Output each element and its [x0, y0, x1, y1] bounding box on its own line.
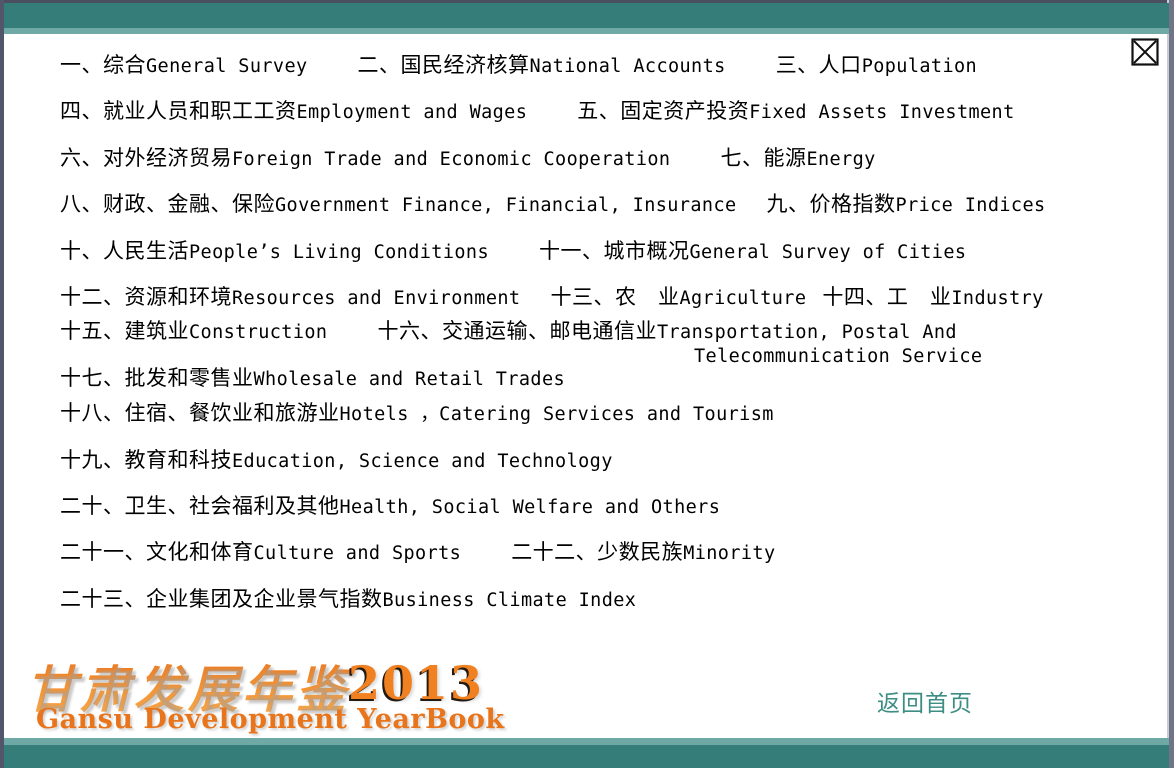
toc-item-12-cn[interactable]: 十二、资源和环境 — [60, 285, 232, 309]
logo-title-en: Gansu Development YearBook — [36, 704, 505, 735]
yearbook-contents-page: 一、综合General Survey二、国民经济核算National Accou… — [0, 0, 1174, 768]
footer-band — [4, 745, 1169, 768]
toc-item-13-en[interactable]: Agriculture — [679, 288, 806, 309]
toc-row: 十二、资源和环境Resources and Environment十三、农 业A… — [4, 274, 1169, 320]
toc-item-20-en[interactable]: Health, Social Welfare and Others — [340, 497, 721, 518]
toc-row: 二十三、企业集团及企业景气指数Business Climate Index — [4, 576, 1169, 622]
toc-item-3-cn[interactable]: 三、人口 — [776, 53, 862, 77]
toc-item-23-en[interactable]: Business Climate Index — [383, 590, 637, 611]
toc-item-1-cn[interactable]: 一、综合 — [60, 53, 146, 77]
toc-item-19-en[interactable]: Education, Science and Technology — [232, 451, 613, 472]
toc-row-continuation: Telecommunication Service — [4, 344, 1169, 367]
footer: 甘肃发展年鉴 2013 Gansu Development YearBook 返… — [4, 648, 1169, 738]
toc-item-9-en[interactable]: Price Indices — [896, 195, 1046, 216]
toc-row: 二十一、文化和体育Culture and Sports二十二、少数民族Minor… — [4, 529, 1169, 575]
toc-item-20-cn[interactable]: 二十、卫生、社会福利及其他 — [60, 494, 340, 518]
toc-item-19-cn[interactable]: 十九、教育和科技 — [60, 448, 232, 472]
toc-row: 十八、住宿、餐饮业和旅游业Hotels ，Catering Services a… — [4, 390, 1169, 436]
toc-item-6-en[interactable]: Foreign Trade and Economic Cooperation — [232, 149, 670, 170]
logo-year: 2013 — [348, 656, 484, 710]
toc-item-18-en[interactable]: Hotels ，Catering Services and Tourism — [340, 404, 774, 425]
toc-item-6-cn[interactable]: 六、对外经济贸易 — [60, 146, 232, 170]
toc-item-15-cn[interactable]: 十五、建筑业 — [60, 319, 189, 343]
toc-item-5-cn[interactable]: 五、固定资产投资 — [577, 99, 749, 123]
toc-item-17-cn[interactable]: 十七、批发和零售业 — [60, 366, 254, 390]
toc-item-17-en[interactable]: Wholesale and Retail Trades — [254, 369, 566, 390]
toc-item-23-cn[interactable]: 二十三、企业集团及企业景气指数 — [60, 587, 383, 611]
toc-item-3-en[interactable]: Population — [862, 56, 977, 77]
toc-row: 一、综合General Survey二、国民经济核算National Accou… — [4, 42, 1169, 88]
table-of-contents: 一、综合General Survey二、国民经济核算National Accou… — [4, 34, 1169, 654]
toc-item-7-en[interactable]: Energy — [806, 149, 875, 170]
toc-item-16-en-line2[interactable]: Telecommunication Service — [694, 346, 982, 367]
toc-item-14-cn[interactable]: 十四、工 业 — [822, 285, 951, 309]
toc-item-16-en[interactable]: Transportation, Postal And — [657, 322, 957, 343]
toc-item-1-en[interactable]: General Survey — [146, 56, 308, 77]
toc-row: 六、对外经济贸易Foreign Trade and Economic Coope… — [4, 135, 1169, 181]
toc-item-8-cn[interactable]: 八、财政、金融、保险 — [60, 192, 275, 216]
toc-item-8-en[interactable]: Government Finance, Financial, Insurance — [275, 195, 737, 216]
toc-item-15-en[interactable]: Construction — [189, 322, 327, 343]
toc-row: 四、就业人员和职工工资Employment and Wages五、固定资产投资F… — [4, 88, 1169, 134]
footer-band-highlight — [4, 738, 1169, 745]
toc-item-5-en[interactable]: Fixed Assets Investment — [749, 102, 1014, 123]
toc-row: 八、财政、金融、保险Government Finance, Financial,… — [4, 181, 1169, 227]
toc-item-18-cn[interactable]: 十八、住宿、餐饮业和旅游业 — [60, 401, 340, 425]
toc-item-13-cn[interactable]: 十三、农 业 — [550, 285, 679, 309]
toc-row: 十九、教育和科技Education, Science and Technolog… — [4, 437, 1169, 483]
toc-item-4-cn[interactable]: 四、就业人员和职工工资 — [60, 99, 297, 123]
toc-row: 二十、卫生、社会福利及其他Health, Social Welfare and … — [4, 483, 1169, 529]
toc-row: 十、人民生活People’s Living Conditions十一、城市概况G… — [4, 228, 1169, 274]
toc-item-10-cn[interactable]: 十、人民生活 — [60, 239, 189, 263]
toc-item-21-en[interactable]: Culture and Sports — [254, 543, 462, 564]
yearbook-logo: 甘肃发展年鉴 2013 Gansu Development YearBook — [18, 650, 498, 736]
toc-item-2-en[interactable]: National Accounts — [530, 56, 726, 77]
toc-item-12-en[interactable]: Resources and Environment — [232, 288, 520, 309]
window-right-border — [1169, 0, 1174, 768]
toc-item-11-cn[interactable]: 十一、城市概况 — [539, 239, 690, 263]
toc-row: 十五、建筑业Construction十六、交通运输、邮电通信业Transport… — [4, 320, 1169, 343]
toc-item-16-cn[interactable]: 十六、交通运输、邮电通信业 — [377, 319, 657, 343]
toc-row: 十七、批发和零售业Wholesale and Retail Trades — [4, 367, 1169, 390]
toc-item-22-cn[interactable]: 二十二、少数民族 — [511, 540, 683, 564]
toc-item-9-cn[interactable]: 九、价格指数 — [767, 192, 896, 216]
toc-item-11-en[interactable]: General Survey of Cities — [690, 242, 967, 263]
return-home-link[interactable]: 返回首页 — [877, 684, 973, 718]
toc-item-4-en[interactable]: Employment and Wages — [297, 102, 528, 123]
toc-item-21-cn[interactable]: 二十一、文化和体育 — [60, 540, 254, 564]
toc-item-22-en[interactable]: Minority — [683, 543, 775, 564]
toc-item-10-en[interactable]: People’s Living Conditions — [189, 242, 489, 263]
toc-item-2-cn[interactable]: 二、国民经济核算 — [358, 53, 530, 77]
toc-item-14-en[interactable]: Industry — [951, 288, 1043, 309]
toc-item-7-cn[interactable]: 七、能源 — [720, 146, 806, 170]
header-band — [4, 3, 1169, 28]
